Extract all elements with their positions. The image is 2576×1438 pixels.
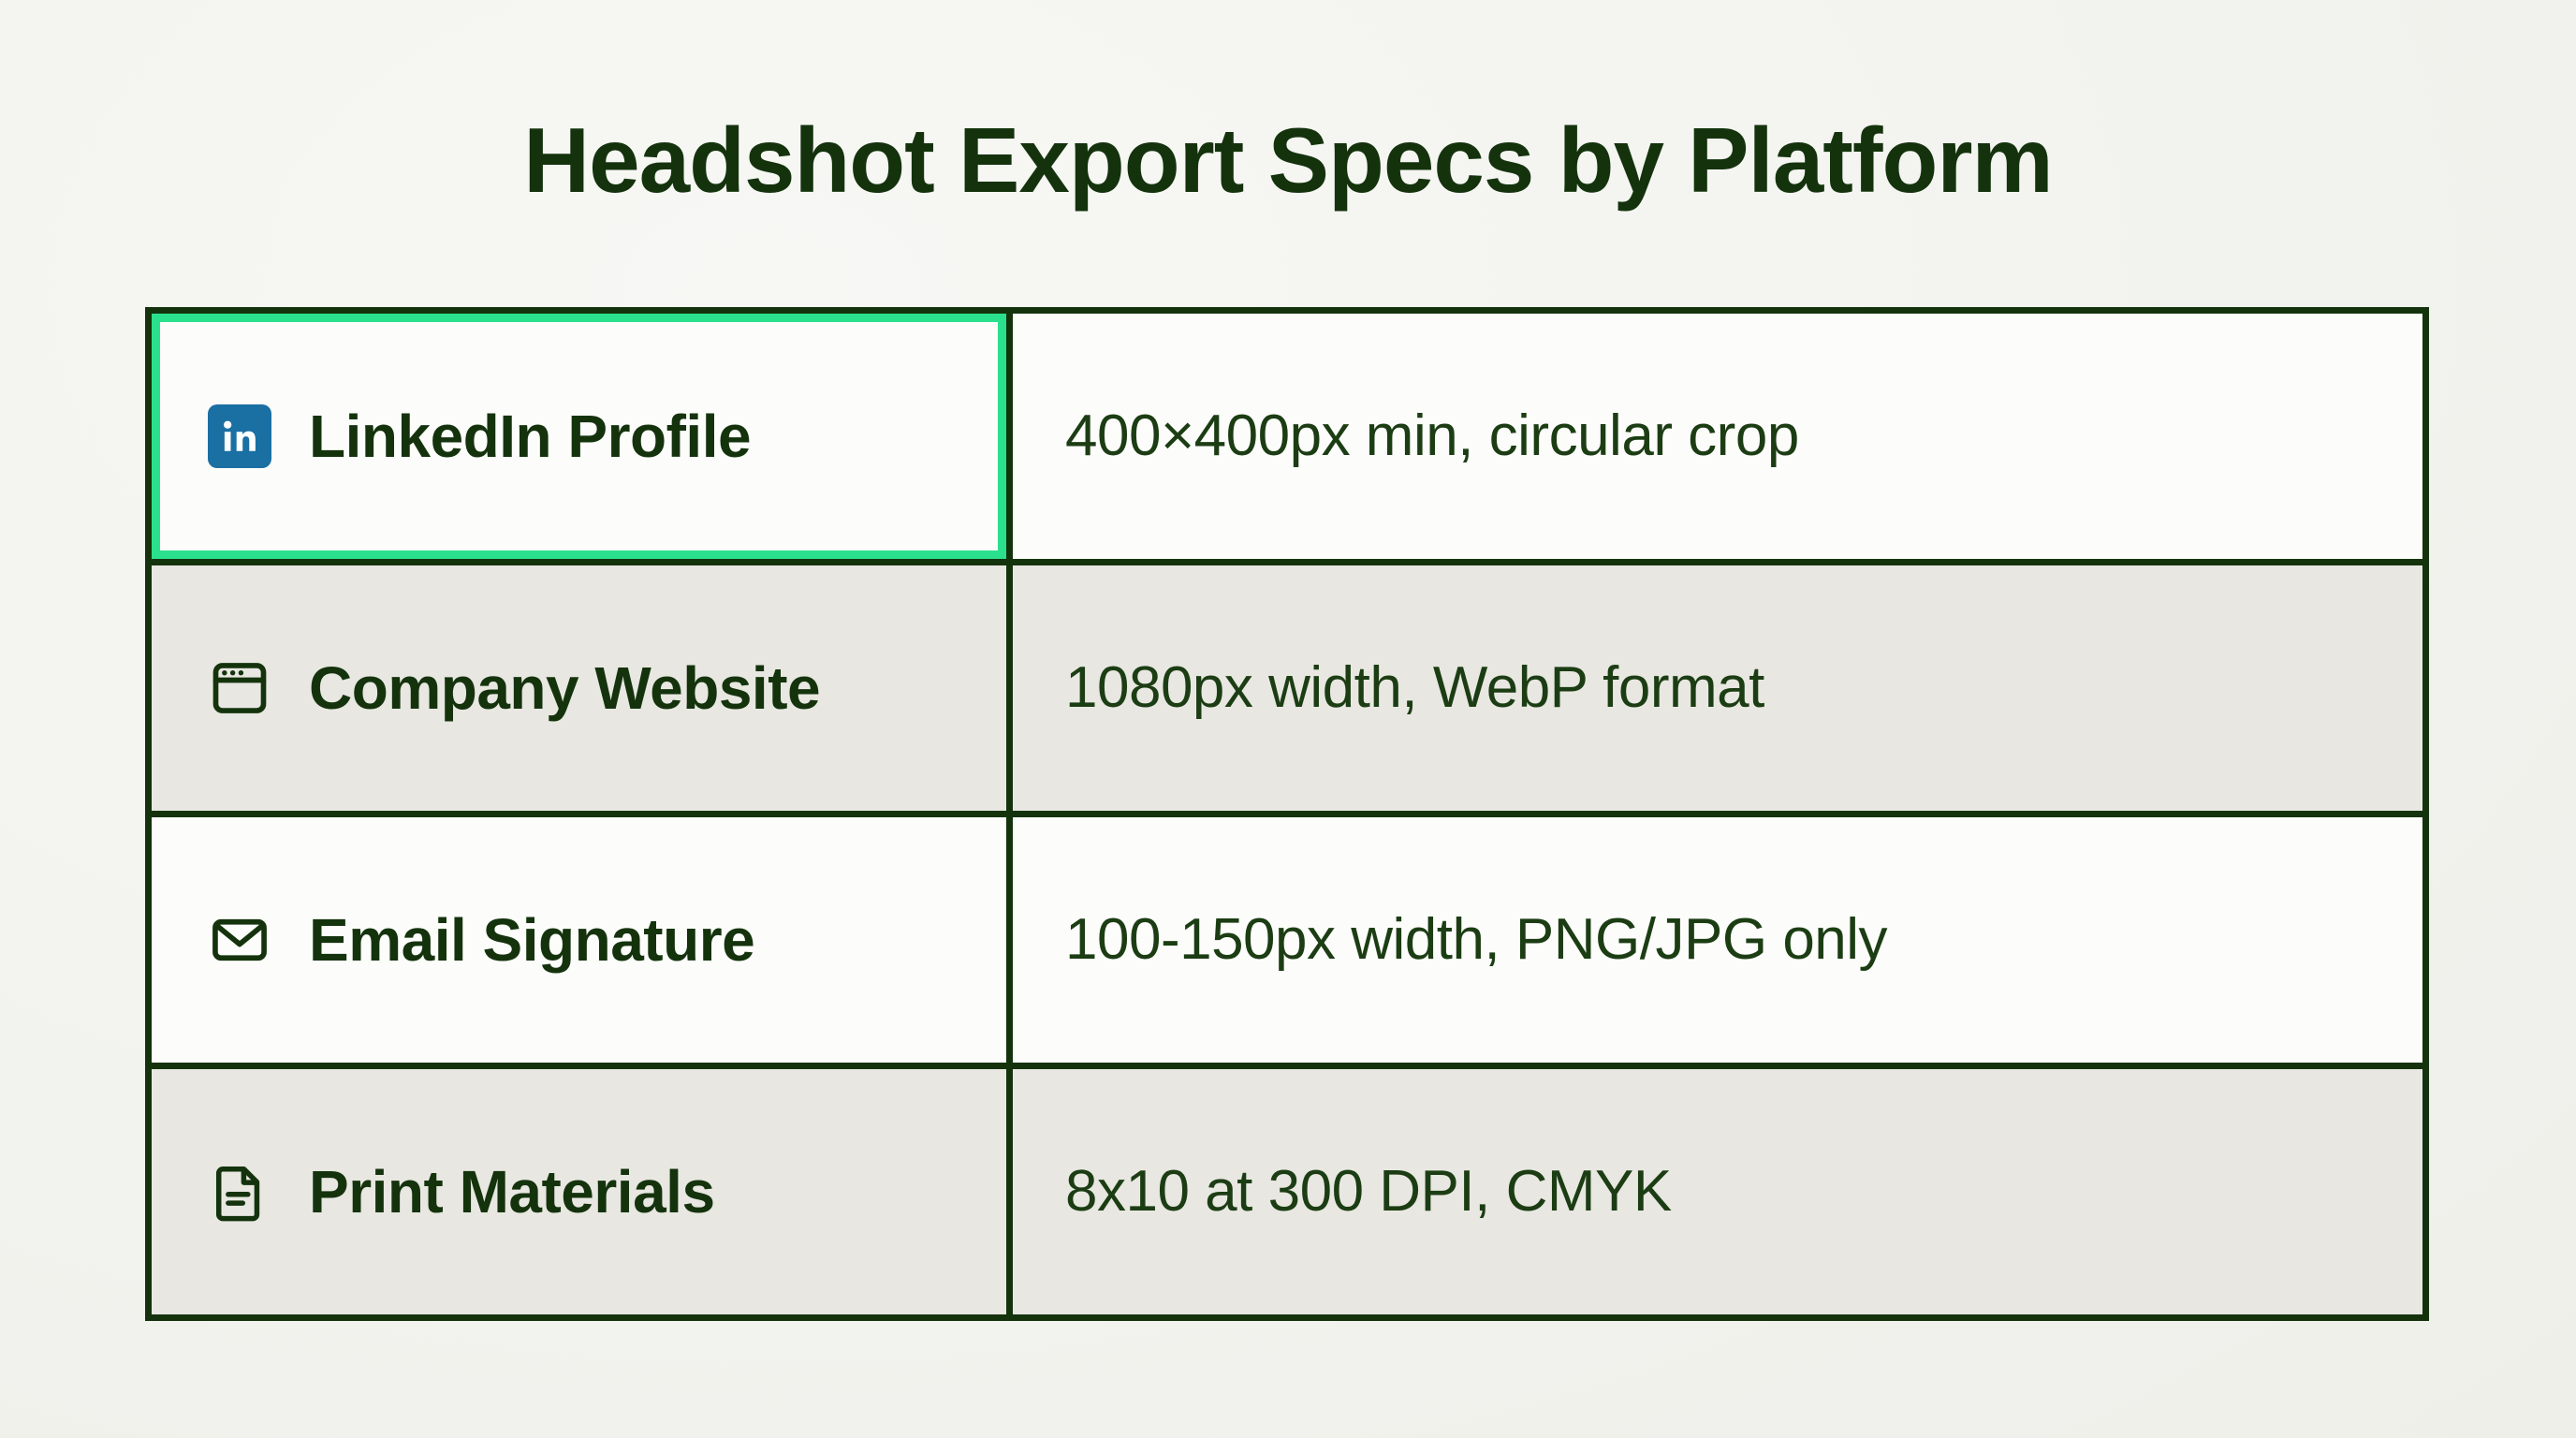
linkedin-icon: [204, 401, 275, 472]
spec-cell: 1080px width, WebP format: [1013, 565, 2422, 811]
envelope-icon: [204, 904, 275, 976]
browser-window-icon: [204, 653, 275, 724]
table-row[interactable]: Email Signature 100-150px width, PNG/JPG…: [152, 817, 2422, 1069]
spec-text: 400×400px min, circular crop: [1065, 403, 1799, 469]
platform-cell[interactable]: Print Materials: [152, 1069, 1013, 1314]
table-row[interactable]: LinkedIn Profile 400×400px min, circular…: [152, 314, 2422, 565]
document-icon: [204, 1156, 275, 1227]
platform-cell[interactable]: Company Website: [152, 565, 1013, 811]
specs-table: LinkedIn Profile 400×400px min, circular…: [145, 307, 2429, 1321]
platform-label: Email Signature: [309, 910, 754, 970]
spec-text: 1080px width, WebP format: [1065, 654, 1764, 721]
table-row[interactable]: Print Materials 8x10 at 300 DPI, CMYK: [152, 1069, 2422, 1314]
platform-label: Company Website: [309, 658, 820, 718]
page-title: Headshot Export Specs by Platform: [0, 110, 2576, 212]
spec-cell: 8x10 at 300 DPI, CMYK: [1013, 1069, 2422, 1314]
spec-cell: 400×400px min, circular crop: [1013, 314, 2422, 559]
spec-text: 8x10 at 300 DPI, CMYK: [1065, 1158, 1672, 1225]
platform-label: LinkedIn Profile: [309, 406, 751, 466]
platform-cell[interactable]: LinkedIn Profile: [152, 314, 1013, 559]
page-canvas: Headshot Export Specs by Platform Linked…: [0, 0, 2576, 1438]
platform-label: Print Materials: [309, 1162, 715, 1222]
table-row[interactable]: Company Website 1080px width, WebP forma…: [152, 565, 2422, 817]
spec-text: 100-150px width, PNG/JPG only: [1065, 906, 1887, 973]
spec-cell: 100-150px width, PNG/JPG only: [1013, 817, 2422, 1063]
platform-cell[interactable]: Email Signature: [152, 817, 1013, 1063]
